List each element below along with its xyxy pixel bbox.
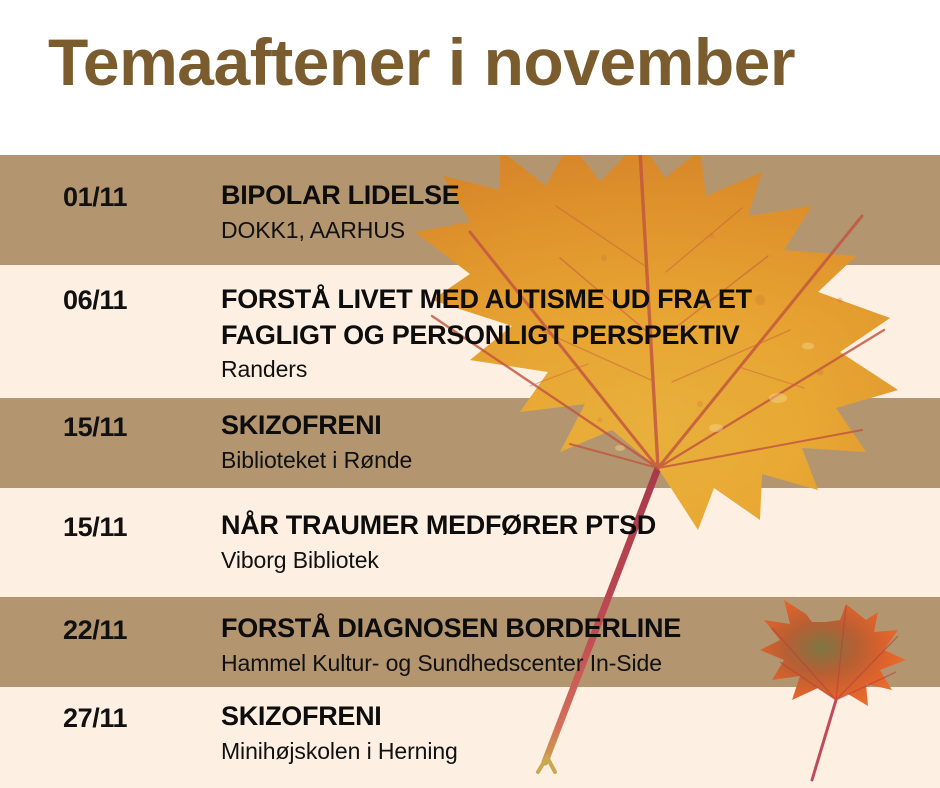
event-venue: Randers: [221, 354, 921, 385]
event-venue: DOKK1, AARHUS: [221, 215, 921, 246]
poster-header: Temaaftener i november: [0, 0, 940, 155]
event-date: 22/11: [63, 615, 203, 646]
event-venue: Viborg Bibliotek: [221, 545, 921, 576]
event-date: 27/11: [63, 703, 203, 734]
event-title: FORSTÅ DIAGNOSEN BORDERLINE: [221, 611, 921, 647]
event-venue: Hammel Kultur- og Sundhedscenter In-Side: [221, 648, 921, 679]
event-date: 15/11: [63, 412, 203, 443]
event-date: 06/11: [63, 285, 203, 316]
event-title: FORSTÅ LIVET MED AUTISME UD FRA ET FAGLI…: [221, 282, 921, 353]
event-title: BIPOLAR LIDELSE: [221, 178, 921, 214]
event-date: 15/11: [63, 512, 203, 543]
event-venue: Minihøjskolen i Herning: [221, 736, 921, 767]
event-title: NÅR TRAUMER MEDFØRER PTSD: [221, 508, 921, 544]
page-title: Temaaftener i november: [48, 26, 795, 99]
event-title: SKIZOFRENI: [221, 408, 921, 444]
event-venue: Biblioteket i Rønde: [221, 445, 921, 476]
poster-root: Temaaftener i november 01/11 BIPOLAR LID…: [0, 0, 940, 788]
event-date: 01/11: [63, 182, 203, 213]
event-title: SKIZOFRENI: [221, 699, 921, 735]
